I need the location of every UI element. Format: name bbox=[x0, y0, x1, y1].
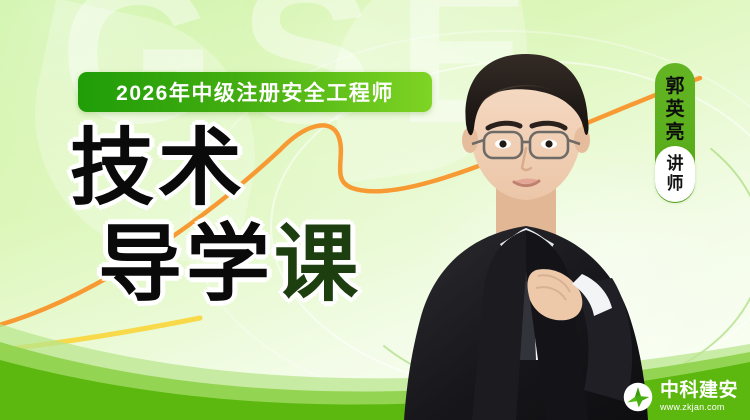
logo-text-group: 中科建安 www.zkjan.com bbox=[660, 381, 738, 412]
instructor-role-char-2: 师 bbox=[667, 174, 684, 194]
brand-logo[interactable]: 中科建安 www.zkjan.com bbox=[623, 381, 738, 412]
brand-url: www.zkjan.com bbox=[660, 403, 738, 412]
instructor-role-badge: 讲 师 bbox=[655, 146, 695, 202]
brand-name: 中科建安 bbox=[660, 381, 738, 400]
headline-line-2-main: 导学 bbox=[98, 217, 274, 311]
instructor-name-char-3: 亮 bbox=[665, 121, 684, 144]
headline-line-2: 导学课 bbox=[98, 222, 362, 308]
course-poster: GSE 2026年中级注册安全工程师 bbox=[0, 0, 750, 420]
instructor-name-char-2: 英 bbox=[665, 98, 684, 121]
course-headline: 技术 导学课 bbox=[70, 126, 362, 307]
instructor-name-char-1: 郭 bbox=[665, 75, 684, 98]
zkjan-star-icon bbox=[623, 382, 653, 412]
exam-title-label: 2026年中级注册安全工程师 bbox=[116, 77, 394, 107]
headline-line-1: 技术 bbox=[70, 126, 362, 212]
instructor-portrait bbox=[376, 20, 676, 420]
instructor-role-char-1: 讲 bbox=[667, 154, 684, 174]
headline-line-2-accent: 课 bbox=[274, 217, 362, 311]
